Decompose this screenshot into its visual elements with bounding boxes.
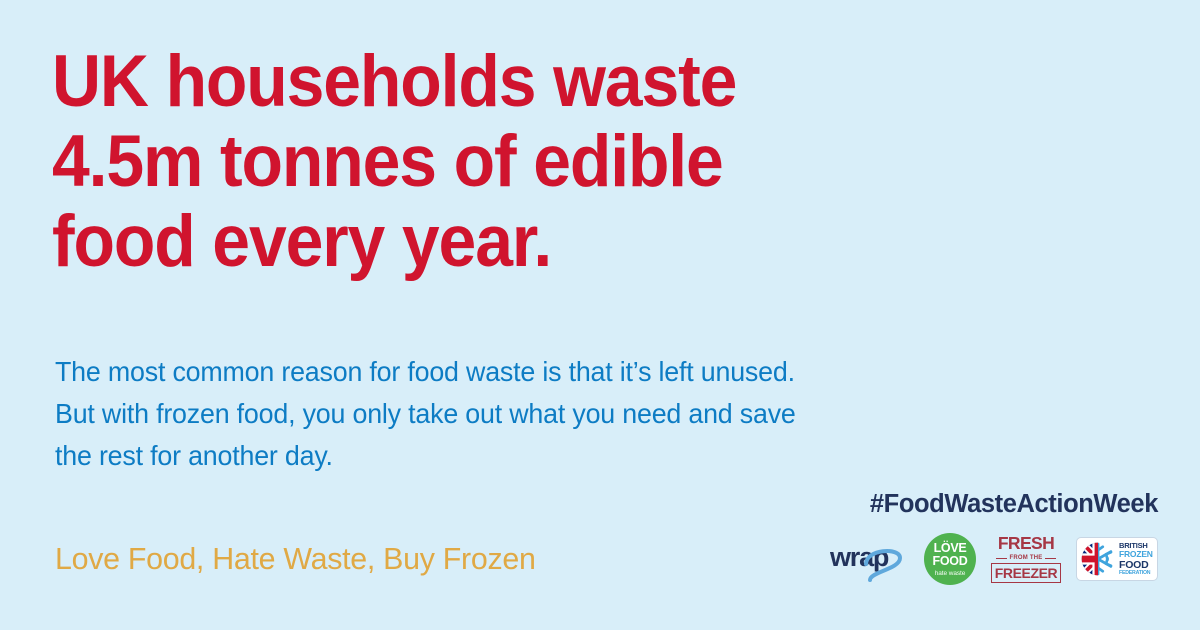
campaign-tagline: Love Food, Hate Waste, Buy Frozen — [55, 541, 536, 577]
wrap-logo: wrap — [830, 536, 904, 582]
fftf-line-freezer: FREEZER — [991, 563, 1062, 583]
bfff-line-british: BRITISH — [1119, 542, 1153, 550]
bfff-line-food: FOOD — [1119, 560, 1153, 571]
lfhw-line-food: FOOD — [933, 555, 968, 568]
bfff-line-federation: FEDERATION — [1119, 571, 1153, 576]
logo-row: wrap LÖVE FOOD hate waste FRESH FROM THE… — [830, 532, 1158, 586]
lfhw-line-love: LÖVE — [934, 542, 967, 555]
bfff-line-frozen: FROZEN — [1119, 550, 1153, 559]
campaign-hashtag: #FoodWasteActionWeek — [870, 490, 1158, 518]
body-paragraph: The most common reason for food waste is… — [55, 351, 1147, 477]
fftf-line-from-the: FROM THE — [1010, 555, 1043, 561]
wrap-wordmark-icon: wrap — [830, 542, 900, 580]
union-jack-snowflake-icon — [1081, 542, 1115, 576]
page-title: UK households waste 4.5m tonnes of edibl… — [52, 42, 963, 282]
fftf-line-fresh: FRESH — [998, 535, 1054, 553]
love-food-hate-waste-logo: LÖVE FOOD hate waste — [924, 533, 976, 585]
svg-text:wrap: wrap — [830, 542, 889, 572]
fftf-band: FROM THE — [996, 555, 1056, 561]
lfhw-line-hate-waste: hate waste — [935, 571, 965, 578]
bfff-wordmark: BRITISH FROZEN FOOD FEDERATION — [1119, 542, 1153, 577]
british-frozen-food-federation-logo: BRITISH FROZEN FOOD FEDERATION — [1076, 537, 1158, 581]
poster-canvas: UK households waste 4.5m tonnes of edibl… — [0, 0, 1200, 630]
fresh-from-the-freezer-logo: FRESH FROM THE FREEZER — [996, 535, 1056, 584]
fftf-rule-right — [1045, 558, 1056, 559]
fftf-rule-left — [996, 558, 1007, 559]
